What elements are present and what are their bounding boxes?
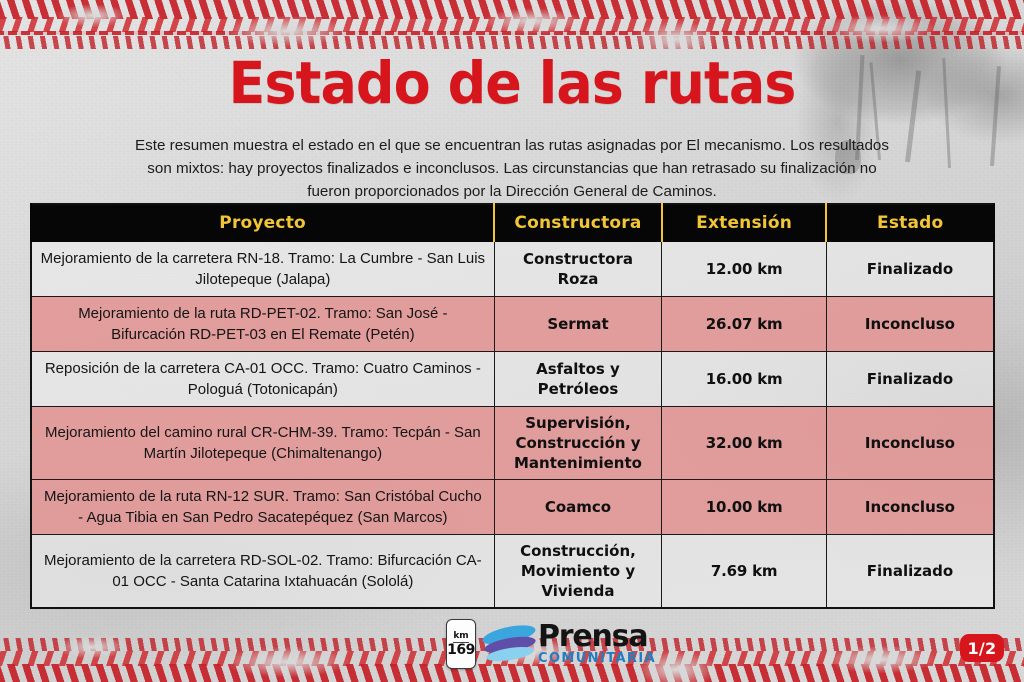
column-header-extension: Extensión — [662, 204, 827, 242]
prensa-comunitaria-logo[interactable]: km 169 Prensa COMUNITARIA — [446, 620, 656, 668]
table-row: Mejoramiento de la carretera RD-SOL-02. … — [31, 535, 994, 609]
routes-table-container: Proyecto Constructora Extensión Estado M… — [30, 203, 995, 609]
brand-wordmark: Prensa COMUNITARIA — [538, 622, 656, 666]
cell-estado: Inconcluso — [826, 297, 994, 352]
swoosh-icon — [482, 623, 538, 665]
page-title: Estado de las rutas — [36, 52, 988, 114]
km-marker-icon: km 169 — [446, 619, 476, 669]
column-header-estado: Estado — [826, 204, 994, 242]
cell-proyecto: Mejoramiento de la carretera RN-18. Tram… — [31, 242, 494, 297]
routes-table: Proyecto Constructora Extensión Estado M… — [30, 203, 995, 609]
cell-extension: 12.00 km — [662, 242, 827, 297]
cell-constructora: Construcción, Movimiento y Vivienda — [494, 535, 662, 609]
table-row: Mejoramiento de la ruta RD-PET-02. Tramo… — [31, 297, 994, 352]
cell-extension: 16.00 km — [662, 352, 827, 407]
cell-estado: Inconcluso — [826, 407, 994, 480]
column-header-proyecto: Proyecto — [31, 204, 494, 242]
cell-extension: 7.69 km — [662, 535, 827, 609]
cell-proyecto: Mejoramiento de la ruta RN-12 SUR. Tramo… — [31, 480, 494, 535]
cell-constructora: Asfaltos y Petróleos — [494, 352, 662, 407]
cell-proyecto: Mejoramiento de la ruta RD-PET-02. Tramo… — [31, 297, 494, 352]
column-header-constructora: Constructora — [494, 204, 662, 242]
km-marker-label: km — [453, 632, 468, 643]
cell-constructora: Sermat — [494, 297, 662, 352]
cell-constructora: Supervisión, Construcción y Mantenimient… — [494, 407, 662, 480]
cell-estado: Finalizado — [826, 352, 994, 407]
km-marker-number: 169 — [447, 644, 475, 657]
table-header: Proyecto Constructora Extensión Estado — [31, 204, 994, 242]
table-row: Mejoramiento de la carretera RN-18. Tram… — [31, 242, 994, 297]
cell-constructora: Coamco — [494, 480, 662, 535]
cell-constructora: Constructora Roza — [494, 242, 662, 297]
brand-name-primary: Prensa — [538, 622, 656, 652]
table-row: Mejoramiento del camino rural CR-CHM-39.… — [31, 407, 994, 480]
cell-proyecto: Reposición de la carretera CA-01 OCC. Tr… — [31, 352, 494, 407]
table-header-row: Proyecto Constructora Extensión Estado — [31, 204, 994, 242]
table-row: Mejoramiento de la ruta RN-12 SUR. Tramo… — [31, 480, 994, 535]
page-subtitle: Este resumen muestra el estado en el que… — [128, 134, 896, 203]
cell-estado: Inconcluso — [826, 480, 994, 535]
cell-proyecto: Mejoramiento del camino rural CR-CHM-39.… — [31, 407, 494, 480]
cell-extension: 26.07 km — [662, 297, 827, 352]
table-body: Mejoramiento de la carretera RN-18. Tram… — [31, 242, 994, 609]
cell-extension: 10.00 km — [662, 480, 827, 535]
cell-proyecto: Mejoramiento de la carretera RD-SOL-02. … — [31, 535, 494, 609]
cell-extension: 32.00 km — [662, 407, 827, 480]
cell-estado: Finalizado — [826, 242, 994, 297]
footer: km 169 Prensa COMUNITARIA 1/2 — [0, 610, 1024, 682]
cell-estado: Finalizado — [826, 535, 994, 609]
brand-name-secondary: COMUNITARIA — [538, 652, 656, 666]
page-indicator-badge: 1/2 — [960, 634, 1004, 662]
table-row: Reposición de la carretera CA-01 OCC. Tr… — [31, 352, 994, 407]
